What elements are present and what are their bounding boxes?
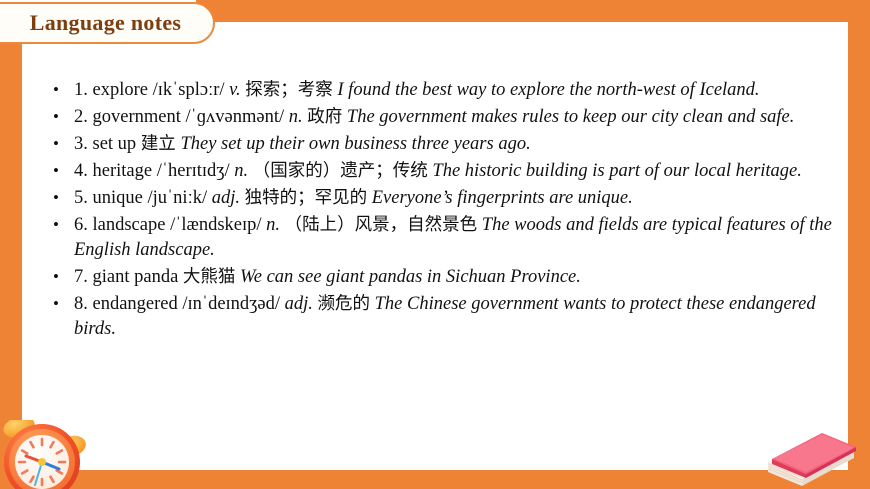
frame-bottom-bar <box>0 470 870 489</box>
item-ipa: /ˈherɪtɪdʒ/ <box>157 161 230 181</box>
item-index: 3. <box>74 134 88 154</box>
item-index: 2. <box>74 107 88 127</box>
item-example: I found the best way to explore the nort… <box>337 80 759 100</box>
item-word: heritage <box>93 161 153 181</box>
item-index: 5. <box>74 188 88 208</box>
book-icon <box>762 430 858 486</box>
item-pos: adj. <box>212 188 240 208</box>
list-item: 4. heritage /ˈherɪtɪdʒ/ n. （国家的）遗产；传统 Th… <box>44 159 834 184</box>
item-word: giant panda <box>93 267 179 287</box>
item-word: explore <box>93 80 148 100</box>
item-word: landscape <box>93 215 166 235</box>
alarm-clock-icon <box>2 420 86 489</box>
item-example: Everyone’s fingerprints are unique. <box>372 188 633 208</box>
item-index: 6. <box>74 215 88 235</box>
item-pos: n. <box>266 215 280 235</box>
item-translation: 政府 <box>307 107 342 127</box>
frame-top-bar <box>196 0 870 22</box>
list-item: 1. explore /ɪkˈsplɔːr/ v. 探索；考察 I found … <box>44 78 834 103</box>
item-example: We can see giant pandas in Sichuan Provi… <box>240 267 581 287</box>
item-word: unique <box>93 188 143 208</box>
item-translation: 独特的；罕见的 <box>245 188 368 208</box>
notes-list: 1. explore /ɪkˈsplɔːr/ v. 探索；考察 I found … <box>44 78 834 342</box>
frame-right-bar <box>848 0 870 470</box>
item-ipa: /ˈlændskeɪp/ <box>170 215 261 235</box>
item-pos: n. <box>234 161 248 181</box>
list-item: 5. unique /juˈniːk/ adj. 独特的；罕见的 Everyon… <box>44 186 834 211</box>
item-word: endangered <box>93 294 178 314</box>
item-index: 8. <box>74 294 88 314</box>
list-item: 2. government /ˈɡʌvənmənt/ n. 政府 The gov… <box>44 105 834 130</box>
item-pos: adj. <box>285 294 313 314</box>
page-title-pill: Language notes <box>0 2 215 44</box>
item-example: The historic building is part of our loc… <box>432 161 802 181</box>
frame-left-bar <box>0 44 22 470</box>
item-translation: （陆上）风景，自然景色 <box>285 215 478 235</box>
item-ipa: /ɪkˈsplɔːr/ <box>153 80 225 100</box>
item-translation: （国家的）遗产；传统 <box>253 161 428 181</box>
list-item: 6. landscape /ˈlændskeɪp/ n. （陆上）风景，自然景色… <box>44 213 834 263</box>
page-title: Language notes <box>4 10 182 36</box>
item-example: The government makes rules to keep our c… <box>347 107 794 127</box>
item-pos: v. <box>229 80 240 100</box>
item-ipa: /ɪnˈdeɪndʒəd/ <box>182 294 280 314</box>
item-index: 4. <box>74 161 88 181</box>
list-item: 8. endangered /ɪnˈdeɪndʒəd/ adj. 濒危的 The… <box>44 292 834 342</box>
item-translation: 建立 <box>141 134 176 154</box>
item-translation: 大熊猫 <box>183 267 236 287</box>
slide-canvas: Language notes 1. explore /ɪkˈsplɔːr/ v.… <box>0 0 870 489</box>
list-item: 7. giant panda 大熊猫 We can see giant pand… <box>44 265 834 290</box>
list-item: 3. set up 建立 They set up their own busin… <box>44 132 834 157</box>
item-translation: 濒危的 <box>318 294 371 314</box>
item-word: government <box>93 107 181 127</box>
language-notes-content: 1. explore /ɪkˈsplɔːr/ v. 探索；考察 I found … <box>44 78 834 344</box>
item-word: set up <box>93 134 137 154</box>
item-pos: n. <box>289 107 303 127</box>
item-index: 7. <box>74 267 88 287</box>
item-ipa: /juˈniːk/ <box>147 188 207 208</box>
item-translation: 探索；考察 <box>245 80 333 100</box>
item-ipa: /ˈɡʌvənmənt/ <box>186 107 285 127</box>
item-index: 1. <box>74 80 88 100</box>
item-example: They set up their own business three yea… <box>180 134 530 154</box>
